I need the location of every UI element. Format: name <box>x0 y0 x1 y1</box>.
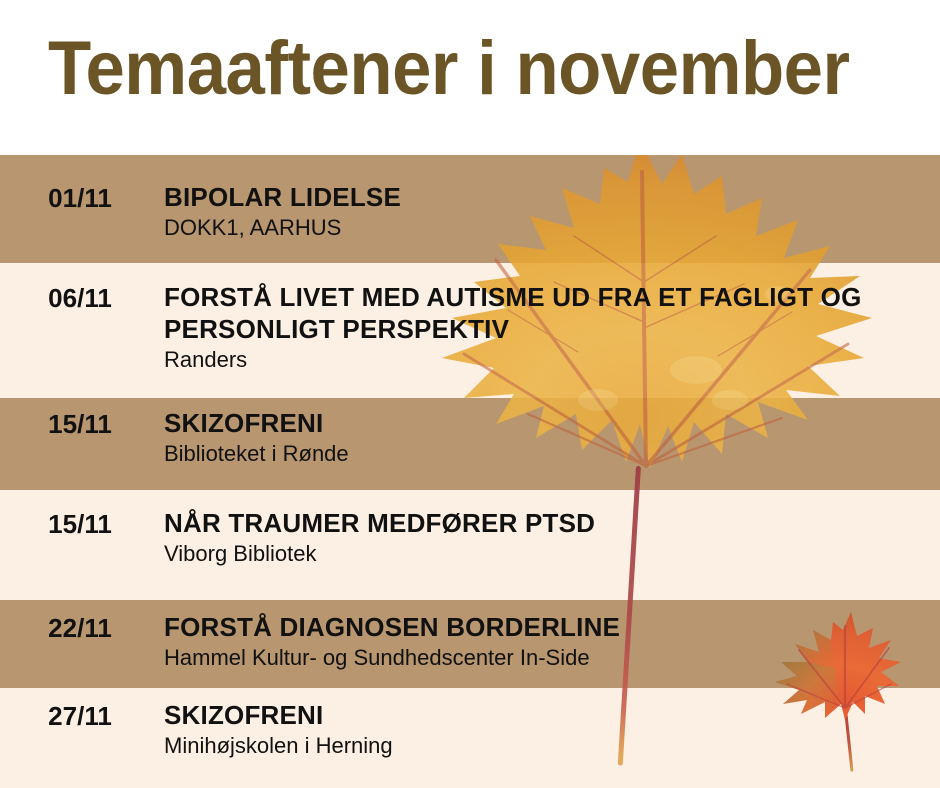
event-title: FORSTÅ DIAGNOSEN BORDERLINE <box>164 611 940 643</box>
poster-header: Temaaftener i november <box>0 0 940 155</box>
event-body: FORSTÅ LIVET MED AUTISME UD FRA ET FAGLI… <box>160 281 940 374</box>
event-title: NÅR TRAUMER MEDFØRER PTSD <box>164 507 940 539</box>
poster-canvas: Temaaftener i november 01/11BIPOLAR LIDE… <box>0 0 940 788</box>
event-venue: DOKK1, AARHUS <box>164 214 940 242</box>
event-row[interactable]: 15/11SKIZOFRENIBiblioteket i Rønde <box>0 407 940 468</box>
event-date: 01/11 <box>0 181 160 213</box>
event-body: SKIZOFRENIMinihøjskolen i Herning <box>160 699 940 760</box>
event-body: BIPOLAR LIDELSEDOKK1, AARHUS <box>160 181 940 242</box>
event-body: FORSTÅ DIAGNOSEN BORDERLINEHammel Kultur… <box>160 611 940 672</box>
event-title: SKIZOFRENI <box>164 407 940 439</box>
event-venue: Hammel Kultur- og Sundhedscenter In-Side <box>164 644 940 672</box>
event-date: 22/11 <box>0 611 160 643</box>
event-row[interactable]: 06/11FORSTÅ LIVET MED AUTISME UD FRA ET … <box>0 281 940 374</box>
event-row[interactable]: 27/11SKIZOFRENIMinihøjskolen i Herning <box>0 699 940 760</box>
event-date: 15/11 <box>0 507 160 539</box>
event-row[interactable]: 01/11BIPOLAR LIDELSEDOKK1, AARHUS <box>0 181 940 242</box>
event-venue: Viborg Bibliotek <box>164 540 940 568</box>
event-row[interactable]: 22/11FORSTÅ DIAGNOSEN BORDERLINEHammel K… <box>0 611 940 672</box>
event-title: SKIZOFRENI <box>164 699 940 731</box>
event-body: SKIZOFRENIBiblioteket i Rønde <box>160 407 940 468</box>
event-venue: Randers <box>164 346 940 374</box>
event-venue: Minihøjskolen i Herning <box>164 732 940 760</box>
event-row[interactable]: 15/11NÅR TRAUMER MEDFØRER PTSDViborg Bib… <box>0 507 940 568</box>
event-venue: Biblioteket i Rønde <box>164 440 940 468</box>
event-date: 27/11 <box>0 699 160 731</box>
event-date: 06/11 <box>0 281 160 313</box>
event-date: 15/11 <box>0 407 160 439</box>
event-title: BIPOLAR LIDELSE <box>164 181 940 213</box>
event-title: FORSTÅ LIVET MED AUTISME UD FRA ET FAGLI… <box>164 281 940 345</box>
page-title: Temaaftener i november <box>48 28 848 110</box>
event-body: NÅR TRAUMER MEDFØRER PTSDViborg Bibliote… <box>160 507 940 568</box>
